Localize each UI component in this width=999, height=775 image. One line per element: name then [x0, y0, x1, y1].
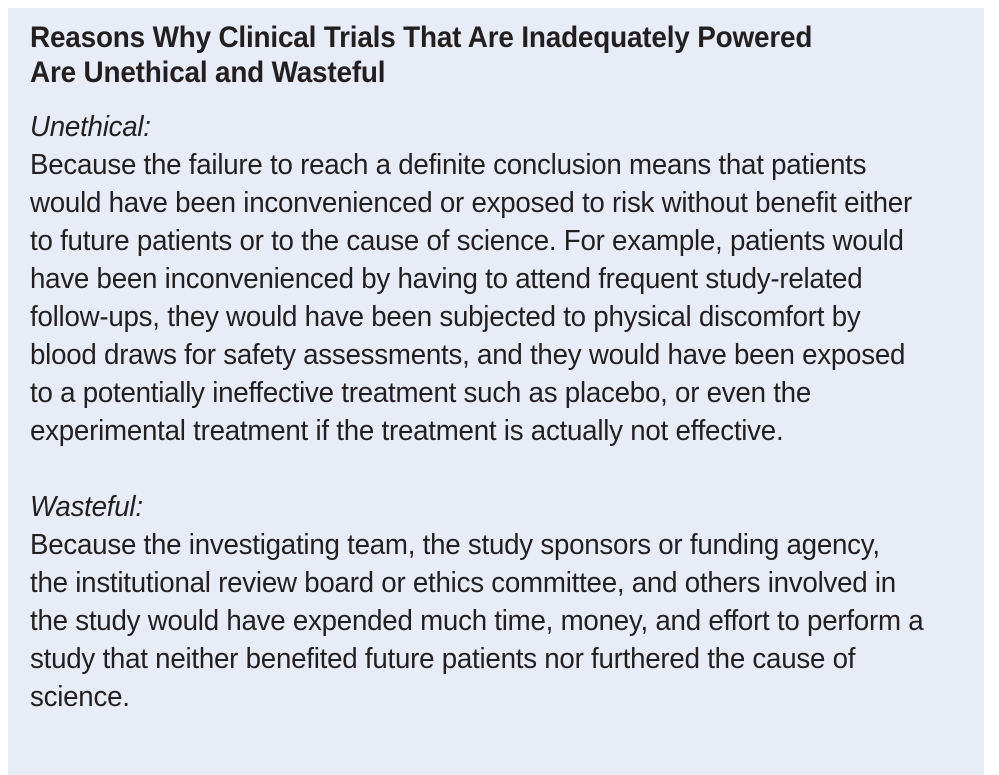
text-box-panel: Reasons Why Clinical Trials That Are Ina…: [8, 8, 984, 775]
section-label-wasteful: Wasteful:: [30, 488, 924, 526]
section-body-wasteful: Because the investigating team, the stud…: [30, 526, 924, 716]
section-label-unethical: Unethical:: [30, 108, 924, 146]
section-body-unethical: Because the failure to reach a definite …: [30, 146, 924, 450]
text-box-content: Reasons Why Clinical Trials That Are Ina…: [30, 21, 966, 716]
page-title: Reasons Why Clinical Trials That Are Ina…: [30, 21, 900, 90]
paragraph-spacer: [30, 450, 966, 488]
section-wasteful: Wasteful: Because the investigating team…: [30, 488, 924, 716]
section-unethical: Unethical: Because the failure to reach …: [30, 108, 924, 450]
